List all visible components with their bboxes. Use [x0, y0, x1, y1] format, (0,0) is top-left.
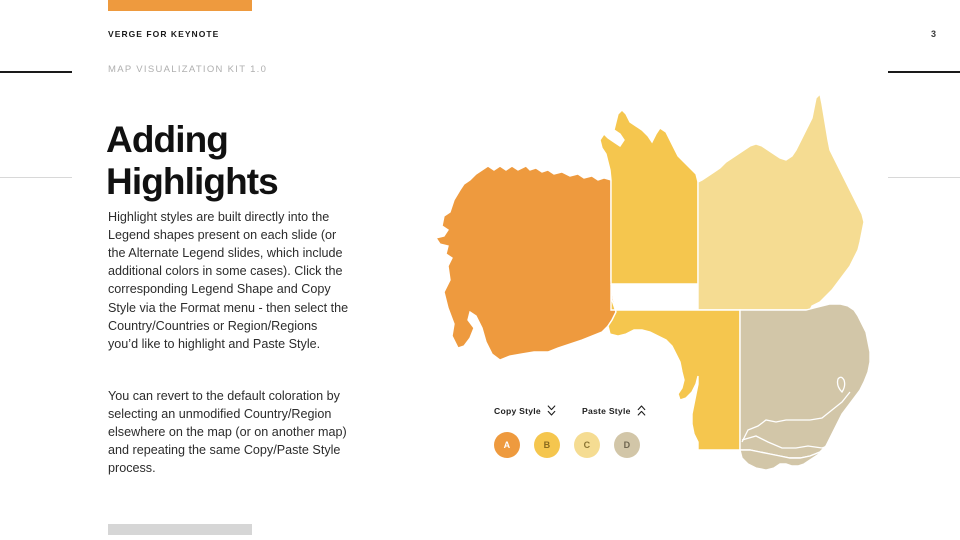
- brand-label: VERGE FOR KEYNOTE: [108, 29, 219, 39]
- legend-swatch-a-label: A: [504, 440, 511, 450]
- legend-swatch-b-label: B: [544, 440, 551, 450]
- map-region-western-australia[interactable]: [436, 166, 616, 360]
- body-paragraph-1: Highlight styles are built directly into…: [108, 208, 350, 354]
- legend-swatch-b[interactable]: B: [534, 432, 560, 458]
- legend-swatches: A B C D: [494, 432, 640, 458]
- body-paragraph-2: You can revert to the default coloration…: [108, 387, 350, 478]
- accent-bar-bottom: [108, 524, 252, 535]
- paste-style-action[interactable]: Paste Style: [582, 405, 646, 417]
- chevron-double-up-icon: [637, 405, 646, 417]
- paste-style-label: Paste Style: [582, 406, 631, 416]
- rule-light-left: [0, 177, 72, 178]
- chevron-double-down-icon: [547, 405, 556, 417]
- legend-swatch-c-label: C: [584, 440, 591, 450]
- map-region-northern-territory[interactable]: [600, 110, 698, 284]
- slide-canvas: VERGE FOR KEYNOTE 3 MAP VISUALIZATION KI…: [0, 0, 960, 540]
- page-title-line-1: Adding: [106, 119, 386, 161]
- page-title: Adding Highlights: [106, 119, 386, 203]
- rule-dark-left: [0, 71, 72, 73]
- map-region-new-south-wales[interactable]: [740, 304, 870, 458]
- legend-swatch-d-label: D: [624, 440, 631, 450]
- map-region-queensland[interactable]: [698, 94, 864, 310]
- rule-light-right: [888, 177, 960, 178]
- copy-style-label: Copy Style: [494, 406, 541, 416]
- legend-swatch-c[interactable]: C: [574, 432, 600, 458]
- copy-style-action[interactable]: Copy Style: [494, 405, 556, 417]
- rule-dark-right: [888, 71, 960, 73]
- section-kicker: MAP VISUALIZATION KIT 1.0: [108, 64, 267, 75]
- legend-swatch-d[interactable]: D: [614, 432, 640, 458]
- legend: Copy Style Paste Style: [494, 402, 664, 472]
- legend-actions: Copy Style Paste Style: [494, 402, 664, 420]
- page-number: 3: [931, 29, 936, 39]
- legend-swatch-a[interactable]: A: [494, 432, 520, 458]
- page-title-line-2: Highlights: [106, 161, 386, 203]
- accent-bar-top: [108, 0, 252, 11]
